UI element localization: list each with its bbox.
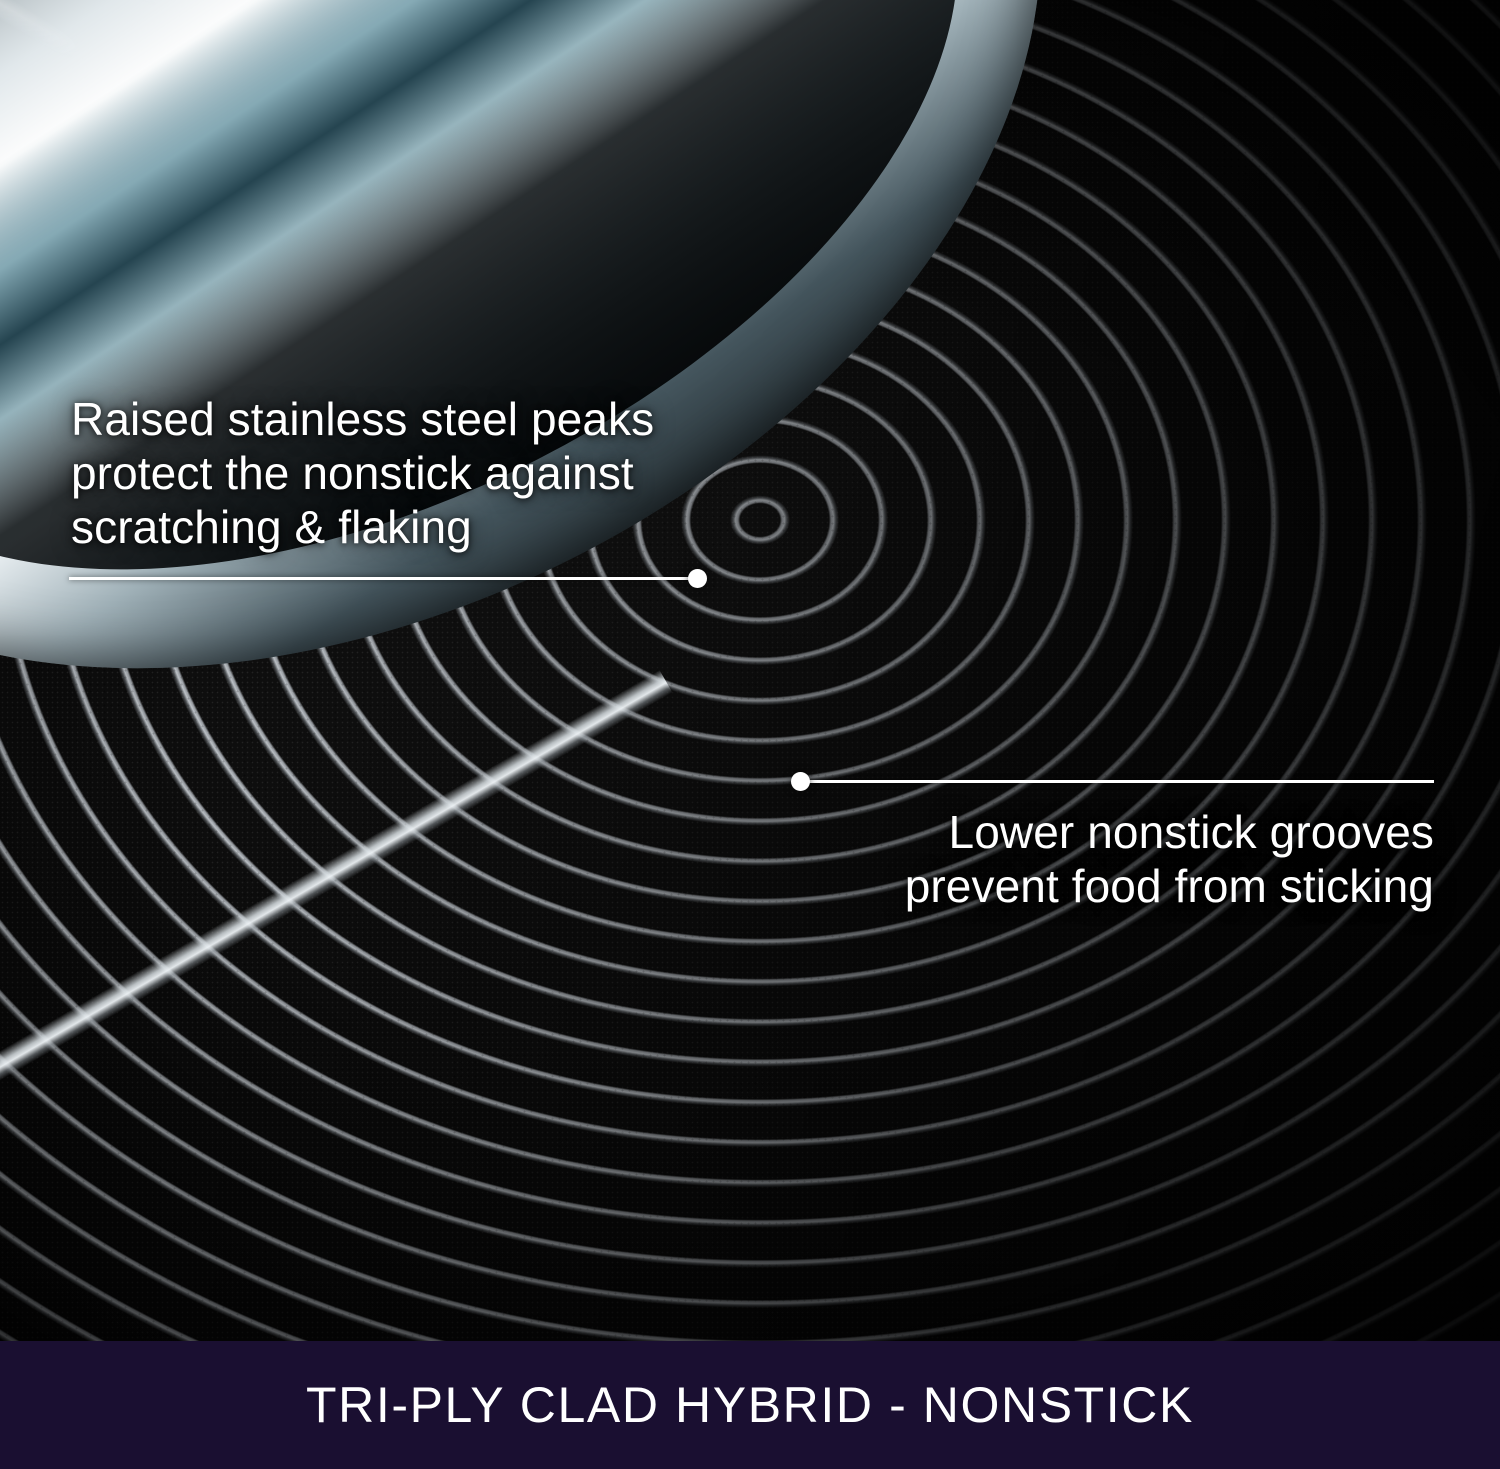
pan-photo: Raised stainless steel peaks protect the… <box>0 0 1500 1341</box>
banner-title: TRI-PLY CLAD HYBRID - NONSTICK <box>306 1376 1194 1434</box>
concentric-ring-pattern <box>0 0 1500 1341</box>
callout-raised-peaks-leader-line <box>69 577 694 580</box>
callout-lower-grooves-leader-dot <box>791 772 810 791</box>
callout-raised-peaks-text: Raised stainless steel peaks protect the… <box>71 393 654 554</box>
bottom-banner: TRI-PLY CLAD HYBRID - NONSTICK <box>0 1341 1500 1469</box>
callout-raised-peaks-leader-dot <box>688 569 707 588</box>
infographic-canvas: Raised stainless steel peaks protect the… <box>0 0 1500 1469</box>
callout-lower-grooves-leader-line <box>802 780 1434 783</box>
callout-lower-grooves-text: Lower nonstick grooves prevent food from… <box>905 806 1434 914</box>
